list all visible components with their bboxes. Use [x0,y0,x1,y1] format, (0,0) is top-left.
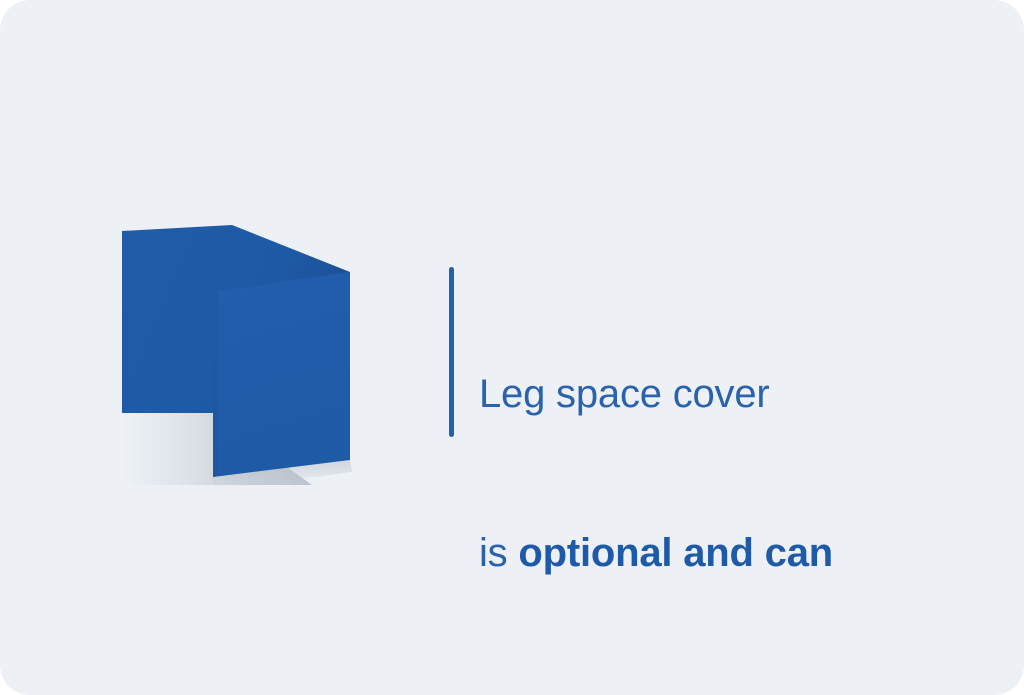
panel-fold-edge [213,292,218,477]
headline-plain: at any time. [653,690,868,695]
info-card: Leg space cover is optional and can be a… [0,0,1024,695]
headline-plain: Leg space cover [479,372,770,416]
headline-emphasis: be added [479,690,653,695]
headline-line-3: be added at any time. [479,686,979,695]
headline-text: Leg space cover is optional and can be a… [479,262,979,695]
leg-space-cover-panel-icon [100,200,390,500]
accent-rule [449,267,454,437]
panel-front-face [213,272,350,477]
headline-line-1: Leg space cover [479,368,979,421]
leg-space-cover-illustration [100,200,390,500]
headline-line-2: is optional and can [479,527,979,580]
headline-emphasis: optional and can [518,531,833,575]
headline-plain: is [479,531,518,575]
